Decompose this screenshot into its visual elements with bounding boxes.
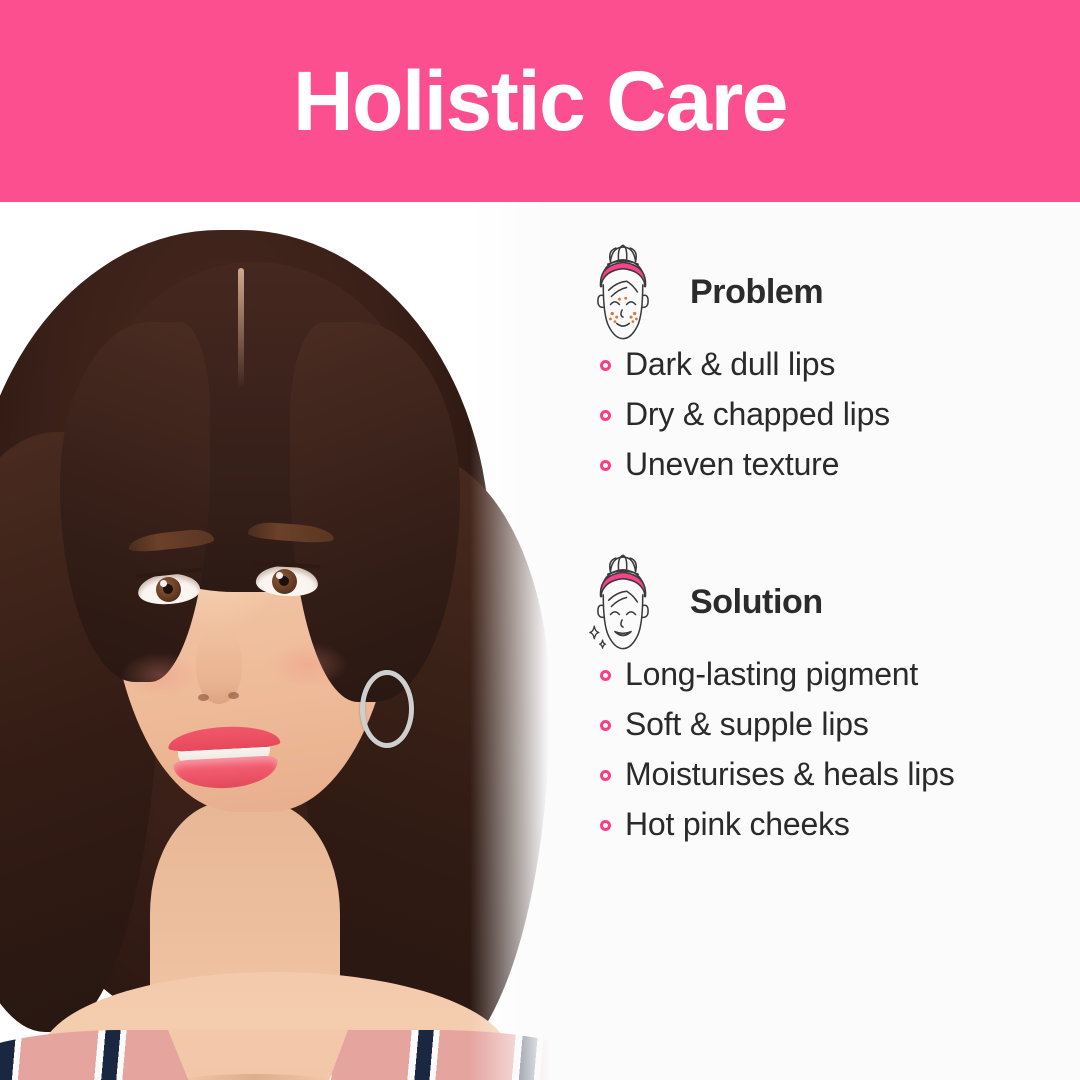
problem-bullet-list: Dark & dull lips Dry & chapped lips Unev… <box>560 344 1080 485</box>
bullet-ring-icon <box>600 820 611 831</box>
bullet-ring-icon <box>600 670 611 681</box>
section-solution-header: Solution <box>560 550 1080 654</box>
hoop-earring <box>360 670 414 748</box>
bullet-text: Dark & dull lips <box>625 344 835 385</box>
photo-fade-edge <box>470 202 560 1080</box>
header-banner: Holistic Care <box>0 0 1080 202</box>
bullet-text: Uneven texture <box>625 444 839 485</box>
bullet-ring-icon <box>600 770 611 781</box>
face-glowing-sparkles-headband-icon <box>578 550 668 654</box>
bullet-ring-icon <box>600 720 611 731</box>
bullet-text: Soft & supple lips <box>625 704 869 745</box>
section-problem: Problem Dark & dull lips Dry & chapped l… <box>560 240 1080 494</box>
solution-bullet-list: Long-lasting pigment Soft & supple lips … <box>560 654 1080 845</box>
section-problem-title: Problem <box>690 275 823 309</box>
eye-glint-right <box>276 572 283 579</box>
bullet-ring-icon <box>600 360 611 371</box>
hair-center-part <box>238 268 244 388</box>
list-item: Uneven texture <box>600 444 1080 485</box>
model-photo <box>0 202 560 1080</box>
bullet-text: Long-lasting pigment <box>625 654 918 695</box>
cheek-blush-right <box>268 642 348 688</box>
nostril-left <box>198 694 209 701</box>
face-with-spots-headband-icon <box>578 240 668 344</box>
list-item: Soft & supple lips <box>600 704 1080 745</box>
bullet-text: Hot pink cheeks <box>625 804 850 845</box>
body-area: Problem Dark & dull lips Dry & chapped l… <box>0 202 1080 1080</box>
benefits-panel: Problem Dark & dull lips Dry & chapped l… <box>560 202 1080 1080</box>
section-solution: Solution Long-lasting pigment Soft & sup… <box>560 550 1080 854</box>
list-item: Long-lasting pigment <box>600 654 1080 695</box>
poster-canvas: Holistic Care <box>0 0 1080 1080</box>
bullet-ring-icon <box>600 410 611 421</box>
section-problem-header: Problem <box>560 240 1080 344</box>
list-item: Moisturises & heals lips <box>600 754 1080 795</box>
eye-glint-left <box>160 580 167 587</box>
list-item: Dry & chapped lips <box>600 394 1080 435</box>
section-solution-title: Solution <box>690 585 823 619</box>
cheek-blush-left <box>120 652 200 698</box>
page-title: Holistic Care <box>293 59 787 143</box>
list-item: Hot pink cheeks <box>600 804 1080 845</box>
list-item: Dark & dull lips <box>600 344 1080 385</box>
v-neckline <box>168 1030 348 1080</box>
bullet-text: Dry & chapped lips <box>625 394 890 435</box>
nostril-right <box>228 692 239 699</box>
bullet-text: Moisturises & heals lips <box>625 754 955 795</box>
bullet-ring-icon <box>600 460 611 471</box>
